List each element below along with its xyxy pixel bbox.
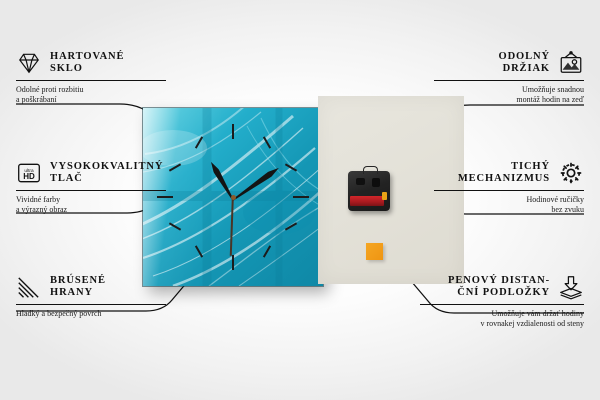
clock-tick-3 <box>293 196 309 198</box>
brushed-edges-icon <box>16 274 42 300</box>
feature-underline <box>16 304 166 305</box>
clock-tick-6 <box>232 255 234 270</box>
feature-title: ODOLNÝ DRŽIAK <box>499 51 551 76</box>
feature-foam-spacers: PENOVÝ DISTAN- ČNÍ PODLOŽKY Umožňuje vám… <box>420 274 584 330</box>
feature-head: TICHÝ MECHANIZMUS <box>434 160 584 186</box>
feature-title-wrap: VYSOKOKVALITNÝ TLAČ <box>50 161 163 186</box>
feature-underline <box>16 190 166 191</box>
feature-head: ODOLNÝ DRŽIAK <box>434 50 584 76</box>
feature-subtitle: Hladký a bezpečný povrch <box>16 309 166 320</box>
product-infographic: HARTOVANÉ SKLO Odolné proti rozbitiu a p… <box>0 0 600 400</box>
feature-subtitle: Umožňuje vám držať hodiny v rovnakej vzd… <box>420 309 584 330</box>
feature-head: HARTOVANÉ SKLO <box>16 50 166 76</box>
feature-title: PENOVÝ DISTAN- ČNÍ PODLOŽKY <box>448 275 550 300</box>
battery <box>350 196 384 206</box>
feature-durable-hanger: ODOLNÝ DRŽIAK Umožňuje snadnou montáž ho… <box>434 50 584 106</box>
diamond-icon <box>16 50 42 76</box>
feature-head: ultra HD VYSOKOKVALITNÝ TLAČ <box>16 160 166 186</box>
picture-frame-hanger-icon <box>558 50 584 76</box>
ultra-hd-icon: ultra HD <box>16 160 42 186</box>
feature-title-wrap: HARTOVANÉ SKLO <box>50 51 124 76</box>
svg-text:HD: HD <box>23 172 35 181</box>
battery-terminal <box>382 192 387 200</box>
feature-subtitle: Odolné proti rozbitiu a poškrábaní <box>16 85 166 106</box>
clock-center-cap <box>231 195 236 200</box>
feature-title-wrap: BRÚSENÉ HRANY <box>50 275 106 300</box>
feature-title: HARTOVANÉ SKLO <box>50 51 124 76</box>
feature-title: TICHÝ MECHANIZMUS <box>458 161 550 186</box>
feature-title-wrap: TICHÝ MECHANIZMUS <box>458 161 550 186</box>
movement-hanger <box>363 166 378 174</box>
feature-title: BRÚSENÉ HRANY <box>50 275 106 300</box>
feature-hardened-glass: HARTOVANÉ SKLO Odolné proti rozbitiu a p… <box>16 50 166 106</box>
movement-shaft-b <box>372 178 380 187</box>
gear-icon <box>558 160 584 186</box>
feature-title-wrap: ODOLNÝ DRŽIAK <box>499 51 551 76</box>
feature-silent-mechanism: TICHÝ MECHANIZMUS Hodinové ručičky bez z… <box>434 160 584 216</box>
feature-brushed-edges: BRÚSENÉ HRANY Hladký a bezpečný povrch <box>16 274 166 319</box>
feature-high-quality-print: ultra HD VYSOKOKVALITNÝ TLAČ Vividné far… <box>16 160 166 216</box>
movement-shaft-a <box>356 178 365 185</box>
feature-underline <box>16 80 166 81</box>
feature-subtitle: Vividné farby a výrazný obraz <box>16 195 166 216</box>
feature-underline <box>434 190 584 191</box>
foam-spacer-pad <box>366 243 383 260</box>
feature-title: VYSOKOKVALITNÝ TLAČ <box>50 161 163 186</box>
feature-title-wrap: PENOVÝ DISTAN- ČNÍ PODLOŽKY <box>448 275 550 300</box>
feature-head: BRÚSENÉ HRANY <box>16 274 166 300</box>
feature-subtitle: Hodinové ručičky bez zvuku <box>434 195 584 216</box>
quartz-movement-box <box>348 171 390 211</box>
feature-underline <box>434 80 584 81</box>
wall-clock-product <box>143 108 323 286</box>
feature-subtitle: Umožňuje snadnou montáž hodin na zeď <box>434 85 584 106</box>
feature-head: PENOVÝ DISTAN- ČNÍ PODLOŽKY <box>420 274 584 300</box>
clock-tick-12 <box>232 124 234 139</box>
feature-underline <box>420 304 584 305</box>
foam-pad-arrow-icon <box>558 274 584 300</box>
